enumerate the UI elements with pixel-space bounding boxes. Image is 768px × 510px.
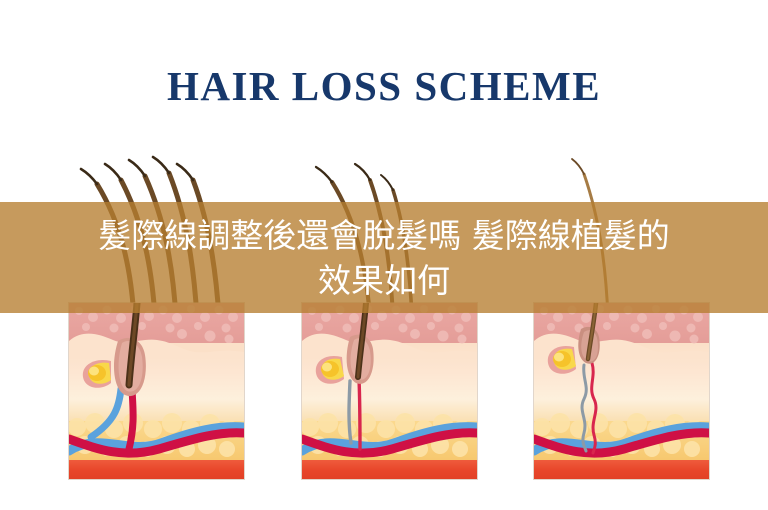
diagram-panel-stage-3 (534, 303, 709, 479)
diagram-panel-stage-1 (69, 303, 244, 479)
diagram-panel-stage-2 (302, 303, 477, 479)
skin-cross-section-2 (302, 303, 477, 479)
skin-cross-section-1 (69, 303, 244, 479)
caption-overlay: 髮際線調整後還會脫髮嗎 髮際線植髮的 效果如何 (0, 202, 768, 313)
page-root: HAIR LOSS SCHEME (0, 0, 768, 510)
skin-cross-section-3 (534, 303, 709, 479)
caption-line-2: 效果如何 (318, 258, 450, 303)
caption-line-1: 髮際線調整後還會脫髮嗎 髮際線植髮的 (98, 213, 670, 258)
